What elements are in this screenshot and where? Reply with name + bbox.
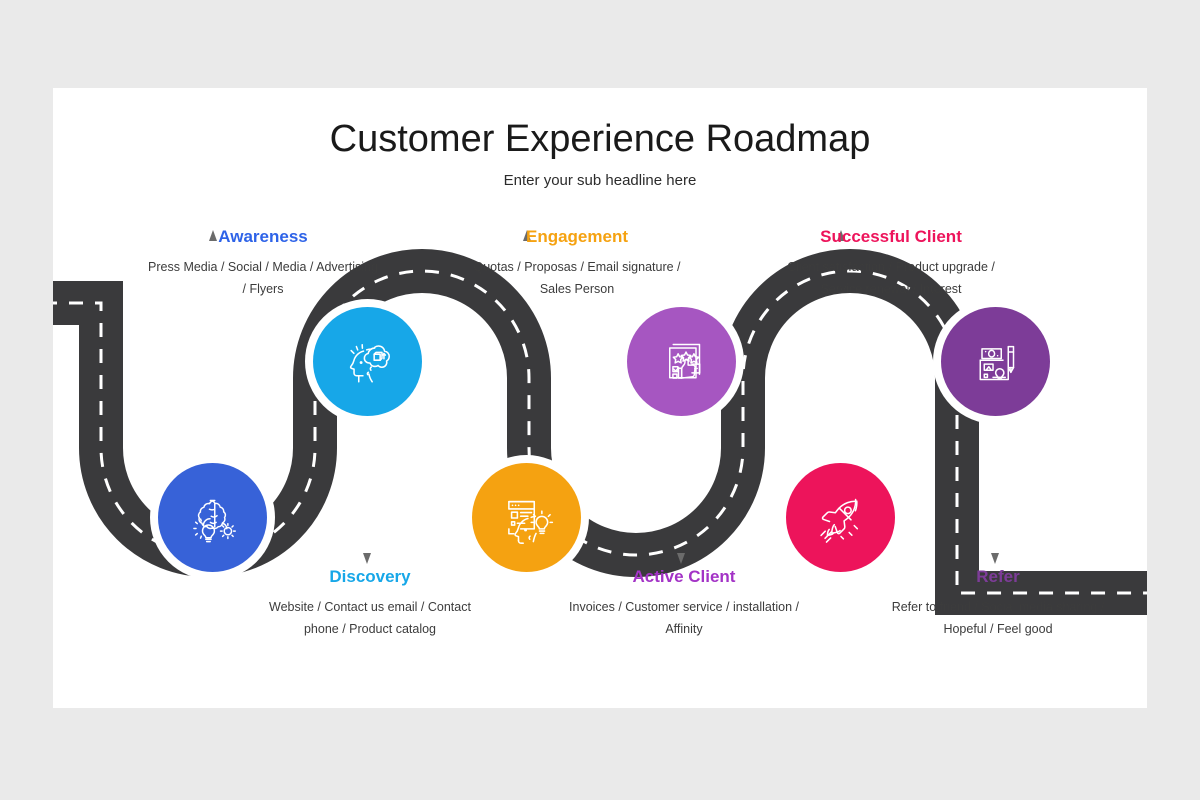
stage-node-refer[interactable] xyxy=(941,307,1050,416)
stage-label-successful-client: Successful Client Client satisfaction / … xyxy=(776,228,1006,300)
stage-title-successful-client: Successful Client xyxy=(776,228,1006,247)
stage-title-engagement: Engagement xyxy=(462,228,692,247)
review-thumbsup-stars-icon xyxy=(654,334,710,390)
stage-description-active-client: Invoices / Customer service / installati… xyxy=(566,597,802,641)
brain-lightbulb-gear-icon xyxy=(185,490,241,546)
stage-node-successful-client[interactable] xyxy=(786,463,895,572)
stage-title-awareness: Awareness xyxy=(148,228,378,247)
connector-discovery xyxy=(360,414,374,566)
head-thought-bubble-icon xyxy=(339,333,397,391)
stage-title-active-client: Active Client xyxy=(566,568,802,587)
stage-description-successful-client: Client satisfaction / Product upgrade / … xyxy=(776,257,1006,301)
stage-node-active-client[interactable] xyxy=(627,307,736,416)
slide-card: Customer Experience Roadmap Enter your s… xyxy=(53,88,1147,708)
stage-label-refer: Refer Refer to friend / Social media sha… xyxy=(880,568,1116,640)
connector-active-client xyxy=(674,414,688,566)
stage-label-discovery: Discovery Website / Contact us email / C… xyxy=(252,568,488,640)
stage-node-awareness[interactable] xyxy=(158,463,267,572)
head-document-idea-icon xyxy=(498,489,556,547)
stage-title-refer: Refer xyxy=(880,568,1116,587)
stage-description-discovery: Website / Contact us email / Contact pho… xyxy=(252,597,488,641)
connector-refer xyxy=(988,414,1002,566)
money-pencil-idea-board-icon xyxy=(968,334,1024,390)
slide-canvas: Customer Experience Roadmap Enter your s… xyxy=(0,0,1200,800)
stage-description-engagement: Quotas / Proposas / Email signature / Sa… xyxy=(462,257,692,301)
stage-label-engagement: Engagement Quotas / Proposas / Email sig… xyxy=(462,228,692,300)
stage-description-awareness: Press Media / Social / Media / Advertisi… xyxy=(148,257,378,301)
stage-title-discovery: Discovery xyxy=(252,568,488,587)
stage-description-refer: Refer to friend / Social media sharing /… xyxy=(880,597,1116,641)
stage-label-awareness: Awareness Press Media / Social / Media /… xyxy=(148,228,378,300)
stage-node-discovery[interactable] xyxy=(313,307,422,416)
stage-node-engagement[interactable] xyxy=(472,463,581,572)
rocket-launch-icon xyxy=(812,489,870,547)
stage-label-active-client: Active Client Invoices / Customer servic… xyxy=(566,568,802,640)
